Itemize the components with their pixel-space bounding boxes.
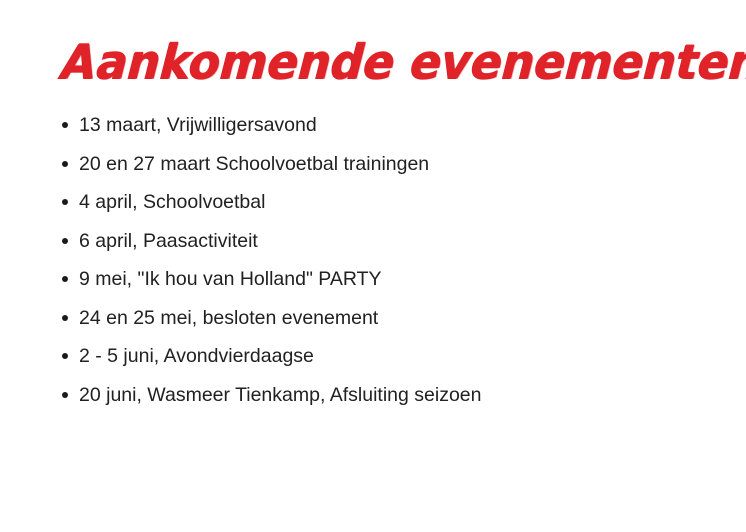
- list-item: 20 en 27 maart Schoolvoetbal trainingen: [0, 145, 481, 184]
- page-title: Aankomende evenementen:: [60, 35, 746, 90]
- disc-bullet-icon: [62, 122, 68, 128]
- event-label: 20 en 27 maart Schoolvoetbal trainingen: [79, 145, 429, 184]
- disc-bullet-icon: [62, 161, 68, 167]
- disc-bullet-icon: [62, 315, 68, 321]
- disc-bullet-icon: [62, 199, 68, 205]
- list-item: 2 - 5 juni, Avondvierdaagse: [0, 337, 481, 376]
- disc-bullet-icon: [62, 276, 68, 282]
- event-label: 2 - 5 juni, Avondvierdaagse: [79, 337, 314, 376]
- events-list: 13 maart, Vrijwilligersavond 20 en 27 ma…: [0, 106, 481, 414]
- page-canvas: Aankomende evenementen: 13 maart, Vrijwi…: [0, 0, 746, 532]
- list-item: 13 maart, Vrijwilligersavond: [0, 106, 481, 145]
- list-item: 9 mei, "Ik hou van Holland" PARTY: [0, 260, 481, 299]
- event-label: 13 maart, Vrijwilligersavond: [79, 106, 317, 145]
- list-item: 4 april, Schoolvoetbal: [0, 183, 481, 222]
- event-label: 4 april, Schoolvoetbal: [79, 183, 265, 222]
- event-label: 24 en 25 mei, besloten evenement: [79, 299, 378, 338]
- event-label: 20 juni, Wasmeer Tienkamp, Afsluiting se…: [79, 376, 481, 415]
- list-item: 6 april, Paasactiviteit: [0, 222, 481, 261]
- list-item: 20 juni, Wasmeer Tienkamp, Afsluiting se…: [0, 376, 481, 415]
- event-label: 9 mei, "Ik hou van Holland" PARTY: [79, 260, 382, 299]
- list-item: 24 en 25 mei, besloten evenement: [0, 299, 481, 338]
- disc-bullet-icon: [62, 238, 68, 244]
- disc-bullet-icon: [62, 353, 68, 359]
- event-label: 6 april, Paasactiviteit: [79, 222, 258, 261]
- disc-bullet-icon: [62, 392, 68, 398]
